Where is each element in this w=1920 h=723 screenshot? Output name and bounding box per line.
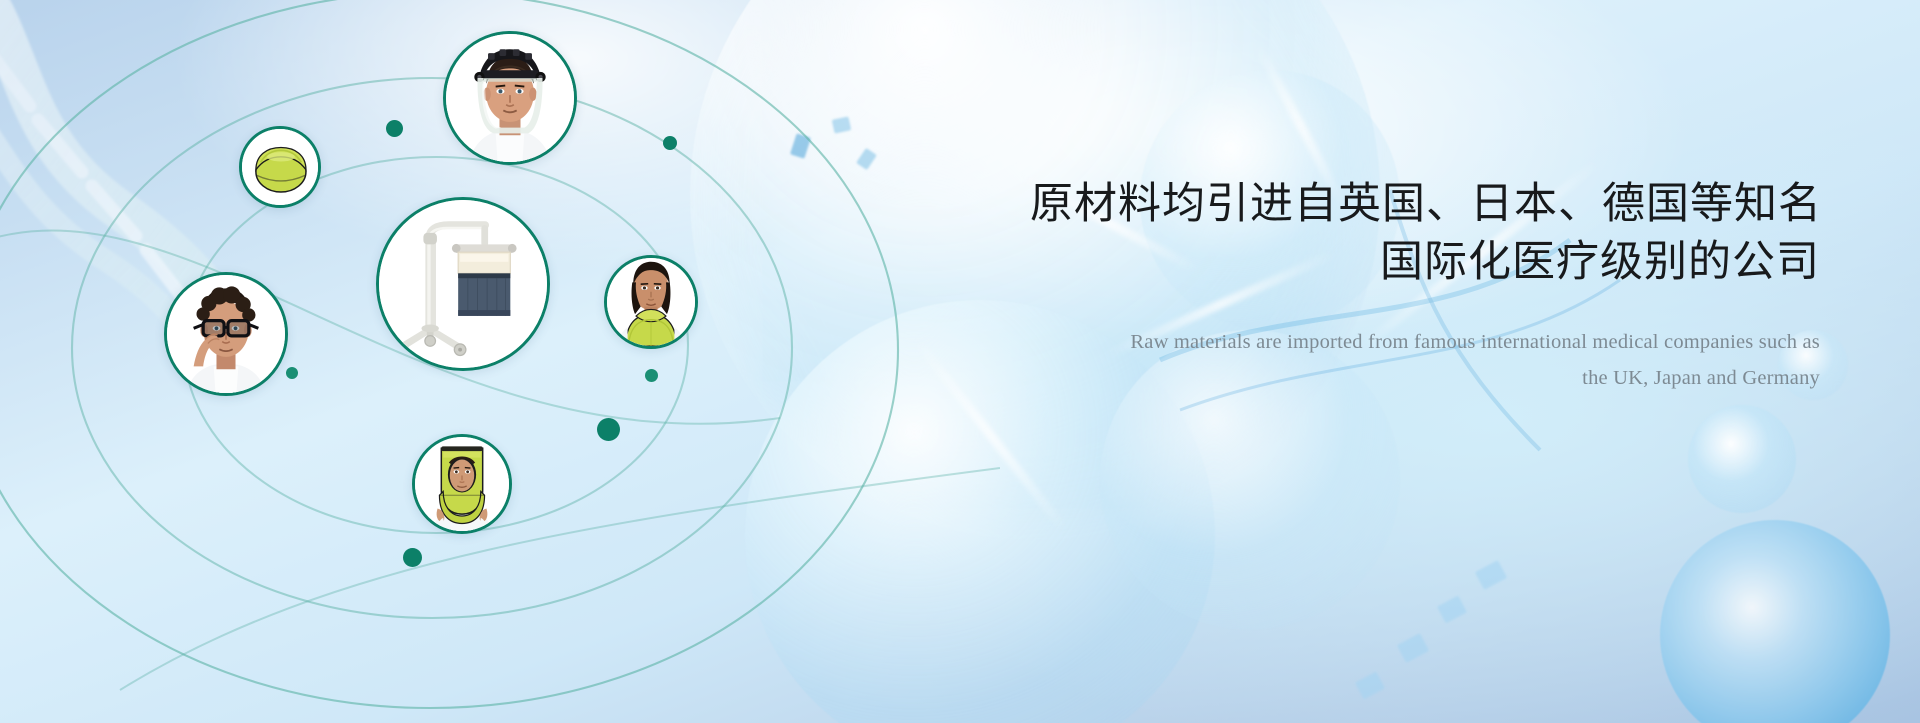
orbit-dot-marker — [645, 369, 658, 382]
subtitle-line-2: the UK, Japan and Germany — [1030, 361, 1820, 397]
subtitle-line-1: Raw materials are imported from famous i… — [1030, 325, 1820, 361]
orbit-dot-marker — [386, 120, 403, 137]
bg-speck — [1355, 671, 1385, 699]
product-circle-face-shield[interactable] — [443, 31, 577, 165]
molecule-sphere-bottom-right — [1660, 520, 1890, 723]
orbit-dot-marker — [663, 136, 677, 150]
hero-banner: 原材料均引进自英国、日本、德国等知名 国际化医疗级别的公司 Raw materi… — [0, 0, 1920, 723]
orbit-dot-marker — [286, 367, 298, 379]
bg-speck — [1397, 633, 1429, 663]
headline-line-1: 原材料均引进自英国、日本、德国等知名 — [1030, 180, 1822, 228]
lime-cap-icon — [242, 129, 318, 205]
banner-subtitle: Raw materials are imported from famous i… — [1030, 325, 1820, 397]
product-circle-protective-hood[interactable] — [412, 434, 512, 534]
banner-headline: 原材料均引进自英国、日本、德国等知名 国际化医疗级别的公司 — [1030, 176, 1820, 291]
bg-speck — [1437, 595, 1467, 623]
bg-speck — [1475, 560, 1507, 590]
product-circle-mobile-barrier[interactable] — [376, 197, 550, 371]
orbit-dot-marker — [403, 548, 422, 567]
headline-line-2: 国际化医疗级别的公司 — [1030, 234, 1820, 292]
product-circle-lime-cap[interactable] — [239, 126, 321, 208]
product-circle-thyroid-collar[interactable] — [604, 255, 698, 349]
banner-text-block: 原材料均引进自英国、日本、德国等知名 国际化医疗级别的公司 Raw materi… — [1030, 176, 1820, 397]
thyroid-collar-icon — [607, 258, 695, 346]
product-circle-lead-glasses[interactable] — [164, 272, 288, 396]
orbit-dot-marker — [597, 418, 620, 441]
mobile-barrier-icon — [379, 200, 547, 368]
protective-hood-icon — [415, 437, 509, 531]
face-shield-icon — [446, 34, 574, 162]
lead-glasses-icon — [167, 275, 285, 393]
